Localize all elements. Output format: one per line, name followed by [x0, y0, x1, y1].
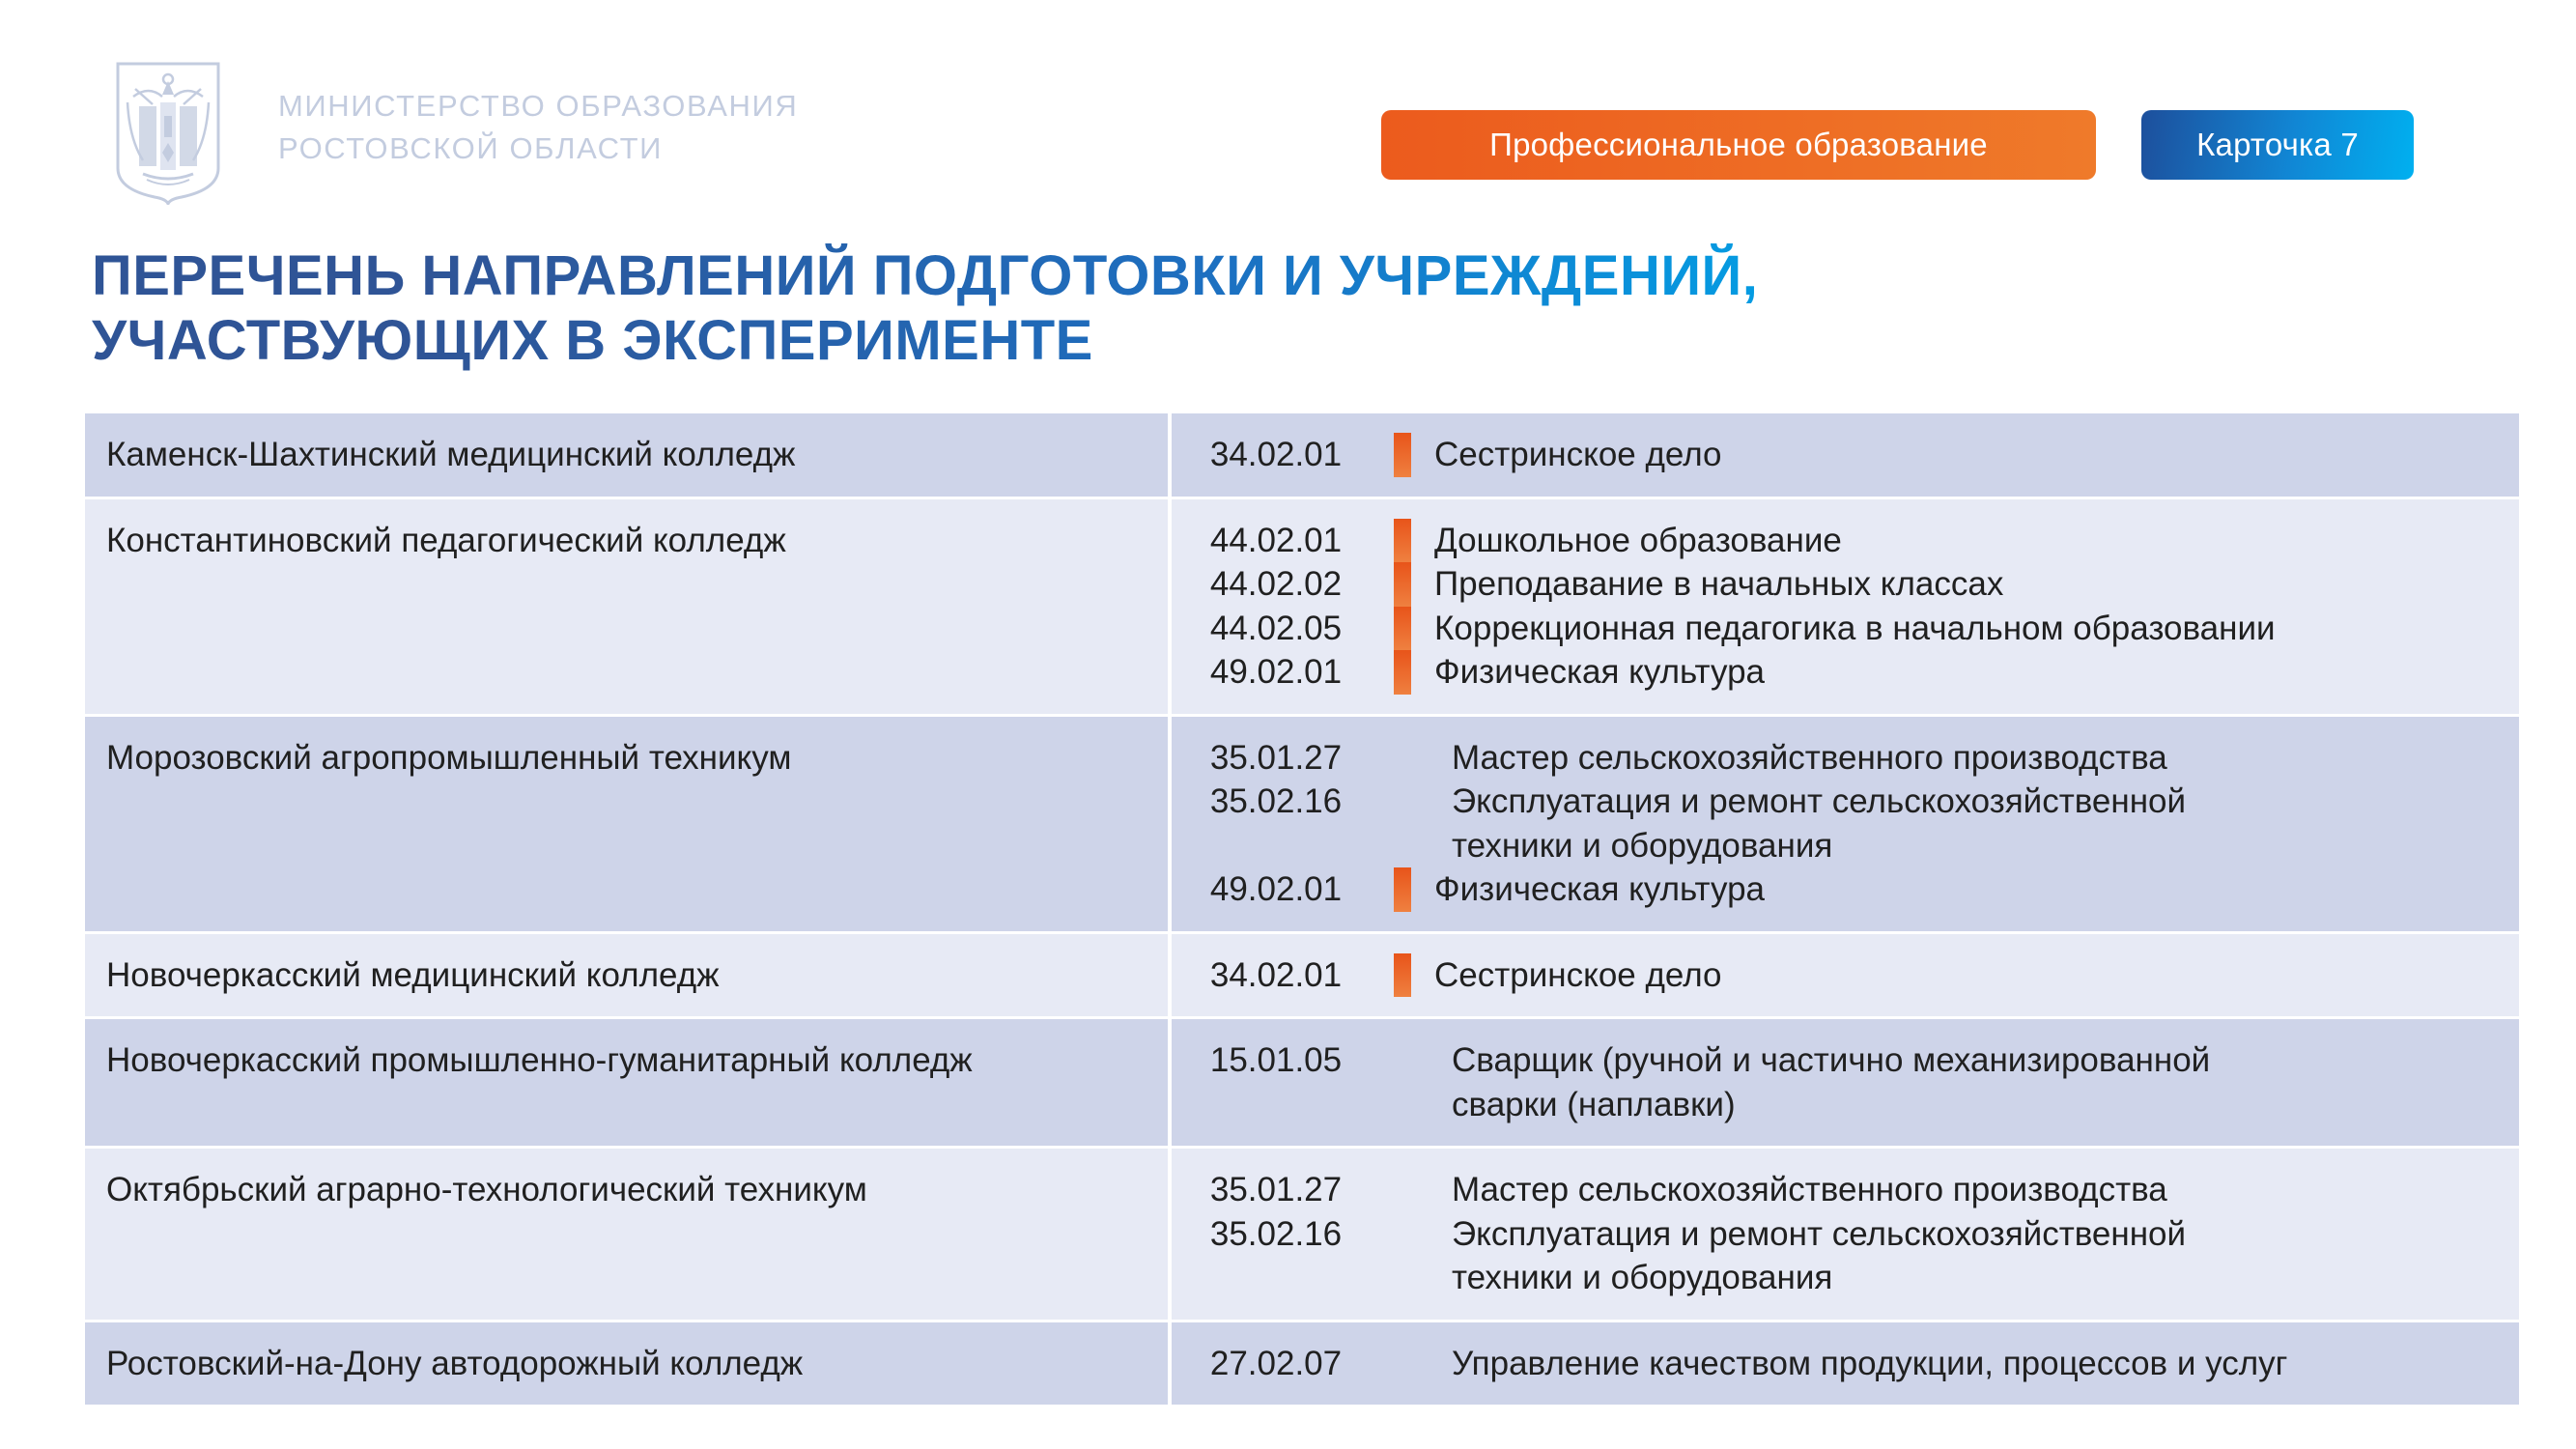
program-code: 44.02.05 — [1172, 607, 1394, 651]
program-entry: 44.02.02Преподавание в начальных классах — [1172, 562, 2519, 607]
program-title: Преподавание в начальных классах — [1411, 562, 2519, 607]
accent-bar-icon — [1394, 607, 1411, 651]
programs-cell: 44.02.01Дошкольное образование44.02.02Пр… — [1172, 499, 2519, 714]
card-number-badge[interactable]: Карточка 7 — [2141, 110, 2414, 180]
accent-bar-icon — [1394, 1038, 1411, 1126]
program-entry: 35.01.27Мастер сельскохозяйственного про… — [1172, 1168, 2519, 1212]
program-code: 35.01.27 — [1172, 736, 1394, 781]
institution-name: Октябрьский аграрно-технологический техн… — [85, 1149, 1172, 1320]
program-title-continuation: сварки (наплавки) — [1452, 1083, 2500, 1127]
accent-bar-icon — [1394, 562, 1411, 607]
table-row: Морозовский агропромышленный техникум35.… — [85, 714, 2519, 931]
program-code: 44.02.01 — [1172, 519, 1394, 563]
program-code: 34.02.01 — [1172, 433, 1394, 477]
program-title-continuation: техники и оборудования — [1452, 1256, 2500, 1300]
programs-cell: 35.01.27Мастер сельскохозяйственного про… — [1172, 717, 2519, 931]
accent-bar-icon — [1394, 736, 1411, 781]
ministry-name-line1: МИНИСТЕРСТВО ОБРАЗОВАНИЯ — [278, 85, 798, 128]
programs-cell: 35.01.27Мастер сельскохозяйственного про… — [1172, 1149, 2519, 1320]
program-title: Сестринское дело — [1411, 433, 2519, 477]
program-entry: 44.02.05Коррекционная педагогика в начал… — [1172, 607, 2519, 651]
program-title: Дошкольное образование — [1411, 519, 2519, 563]
program-code: 27.02.07 — [1172, 1342, 1394, 1386]
table-row: Октябрьский аграрно-технологический техн… — [85, 1146, 2519, 1320]
programs-cell: 34.02.01Сестринское дело — [1172, 413, 2519, 497]
program-code: 35.01.27 — [1172, 1168, 1394, 1212]
ministry-branding: МИНИСТЕРСТВО ОБРАЗОВАНИЯ РОСТОВСКОЙ ОБЛА… — [114, 60, 798, 205]
ministry-name: МИНИСТЕРСТВО ОБРАЗОВАНИЯ РОСТОВСКОЙ ОБЛА… — [278, 85, 798, 170]
accent-bar-icon — [1394, 953, 1411, 998]
programs-cell: 34.02.01Сестринское дело — [1172, 934, 2519, 1017]
program-code: 15.01.05 — [1172, 1038, 1394, 1083]
page-title: ПЕРЕЧЕНЬ НАПРАВЛЕНИЙ ПОДГОТОВКИ И УЧРЕЖД… — [92, 243, 2410, 374]
program-title: Физическая культура — [1411, 650, 2519, 695]
program-entry: 27.02.07Управление качеством продукции, … — [1172, 1342, 2519, 1386]
table-row: Новочеркасский промышленно-гуманитарный … — [85, 1016, 2519, 1146]
program-entry: 35.02.16Эксплуатация и ремонт сельскохоз… — [1172, 1212, 2519, 1300]
program-code: 49.02.01 — [1172, 650, 1394, 695]
table-row: Каменск-Шахтинский медицинский колледж34… — [85, 413, 2519, 497]
program-code: 34.02.01 — [1172, 953, 1394, 998]
institution-name: Новочеркасский медицинский колледж — [85, 934, 1172, 1017]
program-title: Сварщик (ручной и частично механизирован… — [1411, 1038, 2519, 1126]
table-row: Константиновский педагогический колледж4… — [85, 497, 2519, 714]
accent-bar-icon — [1394, 519, 1411, 563]
program-title: Мастер сельскохозяйственного производств… — [1411, 736, 2519, 781]
program-title: Коррекционная педагогика в начальном обр… — [1411, 607, 2519, 651]
program-entry: 49.02.01Физическая культура — [1172, 867, 2519, 912]
institution-name: Ростовский-на-Дону автодорожный колледж — [85, 1322, 1172, 1406]
slide-header: МИНИСТЕРСТВО ОБРАЗОВАНИЯ РОСТОВСКОЙ ОБЛА… — [0, 0, 2576, 222]
accent-bar-icon — [1394, 780, 1411, 867]
program-entry: 49.02.01Физическая культура — [1172, 650, 2519, 695]
table-row: Новочеркасский медицинский колледж34.02.… — [85, 931, 2519, 1017]
program-title: Эксплуатация и ремонт сельскохозяйственн… — [1411, 780, 2519, 867]
institution-name: Новочеркасский промышленно-гуманитарный … — [85, 1019, 1172, 1146]
program-entry: 34.02.01Сестринское дело — [1172, 433, 2519, 477]
category-badge[interactable]: Профессиональное образование — [1381, 110, 2096, 180]
programs-cell: 27.02.07Управление качеством продукции, … — [1172, 1322, 2519, 1406]
institution-name: Каменск-Шахтинский медицинский колледж — [85, 413, 1172, 497]
program-code: 44.02.02 — [1172, 562, 1394, 607]
institution-name: Константиновский педагогический колледж — [85, 499, 1172, 714]
slide-root: МИНИСТЕРСТВО ОБРАЗОВАНИЯ РОСТОВСКОЙ ОБЛА… — [0, 0, 2576, 1449]
program-title: Физическая культура — [1411, 867, 2519, 912]
category-badge-label: Профессиональное образование — [1489, 127, 1988, 163]
accent-bar-icon — [1394, 650, 1411, 695]
program-title: Управление качеством продукции, процессо… — [1411, 1342, 2519, 1386]
table-row: Ростовский-на-Дону автодорожный колледж2… — [85, 1320, 2519, 1406]
card-number-badge-label: Карточка 7 — [2196, 127, 2359, 163]
program-title: Мастер сельскохозяйственного производств… — [1411, 1168, 2519, 1212]
programs-cell: 15.01.05Сварщик (ручной и частично механ… — [1172, 1019, 2519, 1146]
accent-bar-icon — [1394, 1212, 1411, 1300]
program-entry: 15.01.05Сварщик (ручной и частично механ… — [1172, 1038, 2519, 1126]
program-code: 49.02.01 — [1172, 867, 1394, 912]
program-code: 35.02.16 — [1172, 780, 1394, 824]
accent-bar-icon — [1394, 433, 1411, 477]
accent-bar-icon — [1394, 1168, 1411, 1212]
program-entry: 44.02.01Дошкольное образование — [1172, 519, 2519, 563]
accent-bar-icon — [1394, 867, 1411, 912]
coat-of-arms-icon — [114, 60, 222, 205]
institutions-table: Каменск-Шахтинский медицинский колледж34… — [85, 413, 2519, 1405]
program-entry: 35.02.16Эксплуатация и ремонт сельскохоз… — [1172, 780, 2519, 867]
program-entry: 34.02.01Сестринское дело — [1172, 953, 2519, 998]
ministry-name-line2: РОСТОВСКОЙ ОБЛАСТИ — [278, 128, 798, 170]
institution-name: Морозовский агропромышленный техникум — [85, 717, 1172, 931]
accent-bar-icon — [1394, 1342, 1411, 1386]
program-code: 35.02.16 — [1172, 1212, 1394, 1257]
program-entry: 35.01.27Мастер сельскохозяйственного про… — [1172, 736, 2519, 781]
program-title: Эксплуатация и ремонт сельскохозяйственн… — [1411, 1212, 2519, 1300]
program-title-continuation: техники и оборудования — [1452, 824, 2500, 868]
program-title: Сестринское дело — [1411, 953, 2519, 998]
